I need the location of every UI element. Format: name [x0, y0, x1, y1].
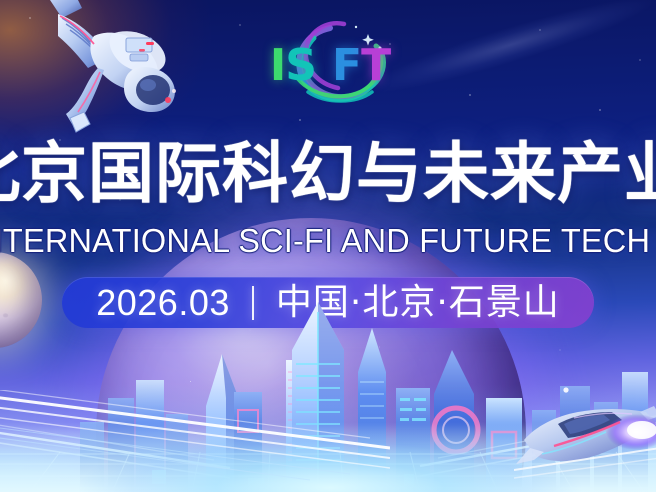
page-title: 北京国际科幻与未来产业博览会 — [0, 136, 656, 212]
logo-letter-t: T — [361, 42, 390, 90]
logo-letter-f: F — [332, 42, 361, 90]
logo-letter-i: I — [270, 42, 285, 90]
astronaut-floating — [8, 0, 198, 138]
event-poster: I S F T 北京国际科幻与未来产业博览会 INTERNATIONAL SCI… — [0, 0, 656, 492]
page-subtitle: INTERNATIONAL SCI-FI AND FUTURE TECH EXP… — [0, 221, 656, 261]
logo-wordmark: I S F T — [260, 42, 400, 90]
logo-letter-s: S — [285, 42, 316, 90]
isft-logo: I S F T — [252, 18, 406, 114]
flying-hover-car — [514, 378, 656, 482]
